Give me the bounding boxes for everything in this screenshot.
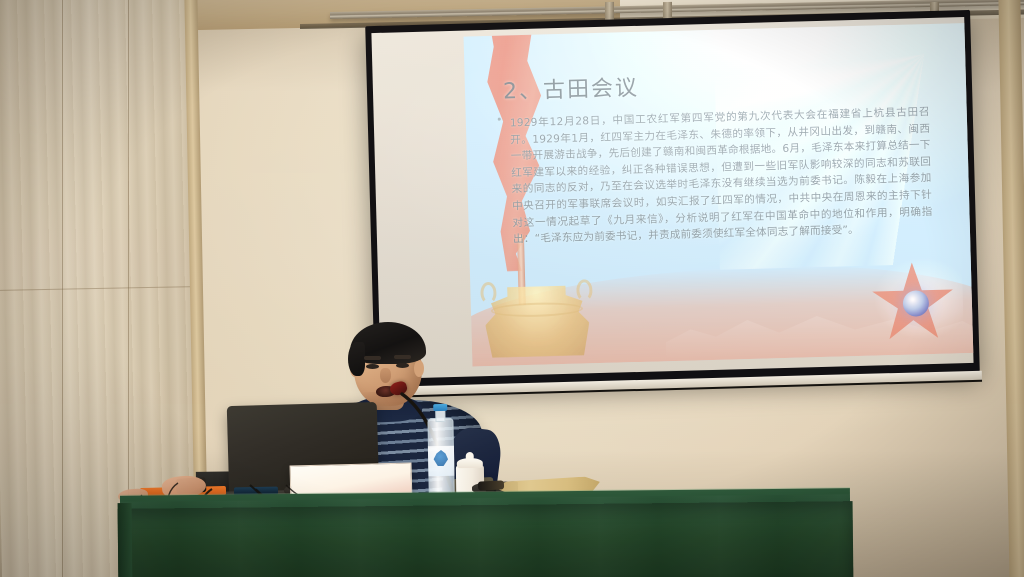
slide-body-text: 1929年12月28日，中国工农红军第四军党的第九次代表大会在福建省上杭县古田召…	[510, 104, 933, 248]
eye-right	[396, 363, 409, 368]
bullet-marker-icon	[498, 118, 501, 121]
gold-handle-left	[480, 282, 497, 304]
eye-left	[366, 364, 379, 369]
bottle-cap[interactable]	[433, 404, 447, 411]
photo-scene: 2、古田会议 1929年12月28日，中国工农红军第四军党的第九次代表大会在福建…	[0, 0, 1024, 577]
slide-title: 2、古田会议	[503, 70, 640, 106]
eyebrow-left	[364, 356, 381, 360]
table-cloth-folds	[118, 494, 854, 577]
screen-surface: 2、古田会议 1929年12月28日，中国工农红军第四军党的第九次代表大会在福建…	[371, 17, 973, 379]
table-left-face	[118, 503, 133, 577]
presentation-slide: 2、古田会议 1929年12月28日，中国工农红军第四军党的第九次代表大会在福建…	[464, 23, 974, 367]
presenter-sideburn	[348, 342, 365, 376]
ear-right	[414, 360, 424, 377]
eyebrow-right	[394, 355, 411, 359]
nose	[380, 368, 391, 383]
